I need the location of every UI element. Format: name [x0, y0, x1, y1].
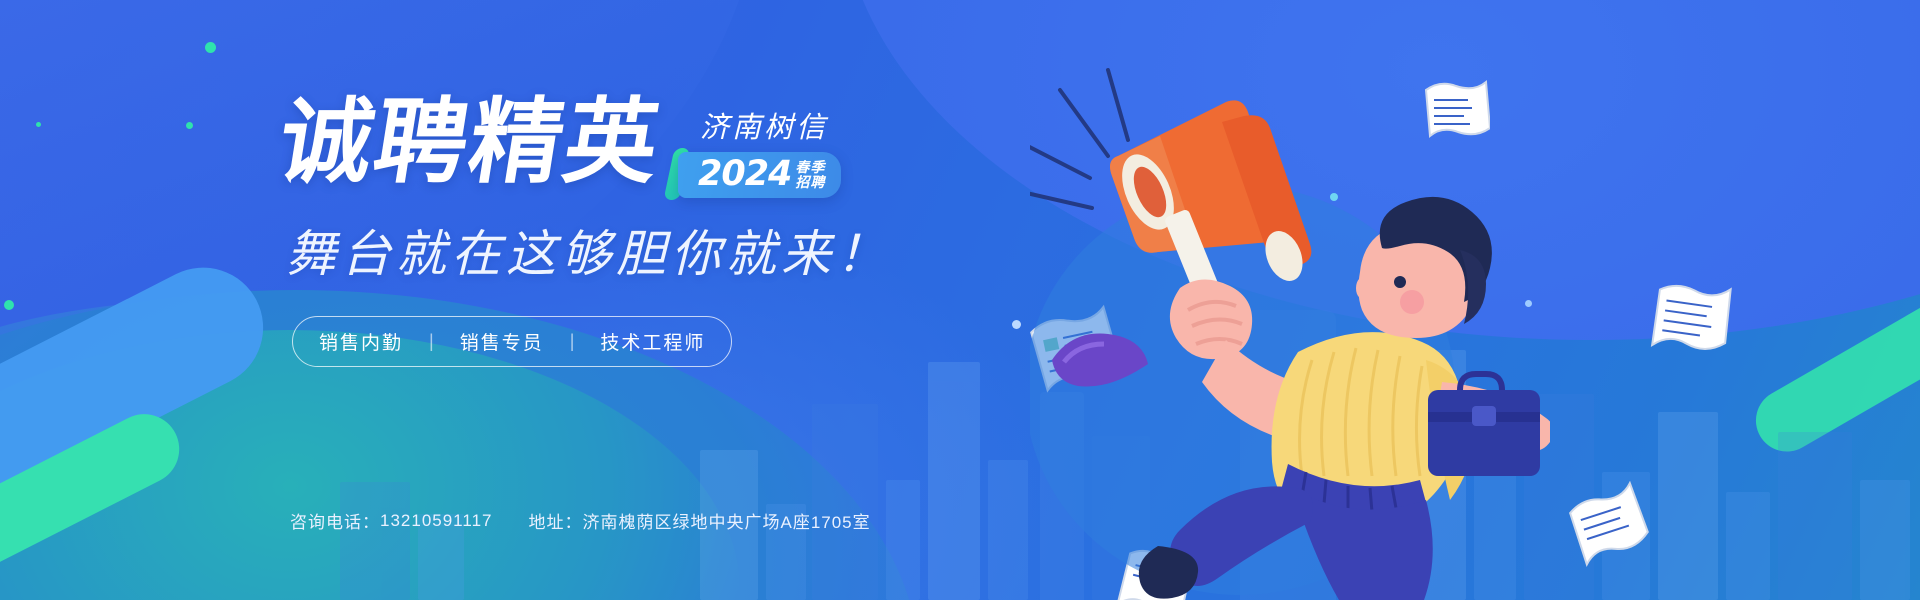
job-tag-2[interactable]: 销售专员 [460, 328, 544, 355]
decorative-dot [186, 122, 193, 129]
head [1356, 197, 1492, 338]
phone-label: 咨询电话： [290, 508, 380, 533]
tag-separator: | [570, 331, 575, 352]
page-title: 诚聘精英 [273, 96, 668, 189]
subtitle: 舞台就在这够胆你就来！ [286, 214, 980, 286]
eye [1394, 276, 1406, 288]
decorative-dot [36, 122, 41, 127]
season-badge: 2024 春季 招聘 [678, 152, 841, 198]
badge-line-1: 春季 [795, 160, 825, 175]
contact-info: 咨询电话： 13210591117 地址： 济南槐荫区绿地中央广场A座1705室 [290, 508, 871, 533]
headline-row: 诚聘精英 济南树信 2024 春季 招聘 [280, 96, 980, 198]
decorative-dot [205, 42, 216, 53]
man-with-megaphone-illustration [1030, 60, 1550, 600]
address-label: 地址： [528, 508, 582, 533]
cheek [1400, 290, 1424, 314]
job-tags-pill: 销售内勤 | 销售专员 | 技术工程师 [292, 316, 732, 367]
badge-year: 2024 [698, 157, 791, 192]
badge-subtext: 春季 招聘 [795, 160, 825, 189]
banner-content: 诚聘精英 济南树信 2024 春季 招聘 舞台就在这够胆你就来！ 销售内勤 | … [280, 96, 980, 367]
job-tag-1[interactable]: 销售内勤 [319, 328, 403, 355]
flying-document [1645, 277, 1735, 363]
job-tag-3[interactable]: 技术工程师 [600, 328, 705, 355]
brand-badge-group: 济南树信 2024 春季 招聘 [678, 104, 841, 198]
tag-separator: | [429, 331, 434, 352]
sound-lines [1030, 70, 1128, 208]
phone-number[interactable]: 13210591117 [380, 511, 492, 531]
hero-illustration [1030, 60, 1550, 600]
recruitment-banner: 诚聘精英 济南树信 2024 春季 招聘 舞台就在这够胆你就来！ 销售内勤 | … [0, 0, 1920, 600]
address-value: 济南槐荫区绿地中央广场A座1705室 [582, 508, 870, 533]
brand-name: 济南树信 [700, 104, 841, 146]
badge-line-2: 招聘 [795, 175, 825, 190]
